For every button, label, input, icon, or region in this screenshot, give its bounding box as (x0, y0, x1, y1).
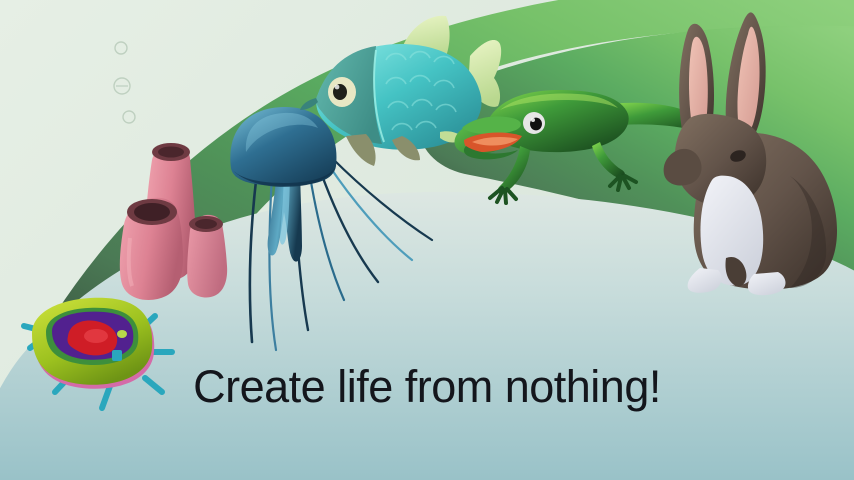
cell-organelle (117, 330, 127, 338)
sponge-opening-front-inner (134, 203, 170, 221)
lizard-eye-glint (531, 118, 535, 122)
fish-eye-glint (335, 85, 340, 90)
sponge-opening-right-inner (195, 219, 217, 229)
cell-vacuole (112, 350, 122, 361)
promo-screenshot: Create life from nothing! (0, 0, 854, 480)
sponge-opening-back-inner (158, 147, 184, 158)
tagline-text: Create life from nothing! (0, 364, 854, 409)
cell-nucleolus (84, 329, 108, 343)
